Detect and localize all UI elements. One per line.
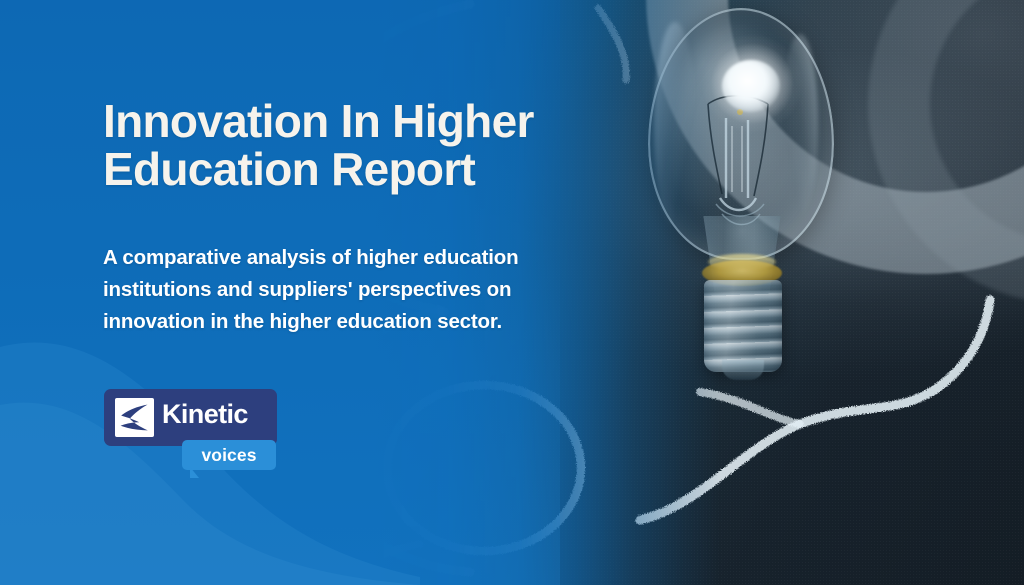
page-subtitle: A comparative analysis of higher educati… xyxy=(103,242,618,339)
logo-secondary-bubble-tail xyxy=(190,467,205,478)
page-title: Innovation In Higher Education Report xyxy=(103,98,623,194)
bulb-base-tip xyxy=(722,360,764,380)
bulb-specular-highlight xyxy=(722,60,780,112)
logo-secondary-bubble: voices xyxy=(182,440,276,470)
report-cover: Innovation In Higher Education Report A … xyxy=(0,0,1024,585)
logo-brand-text: Kinetic xyxy=(162,401,248,428)
logo-sub-brand-text: voices xyxy=(182,440,276,470)
kinetic-swoosh-icon xyxy=(115,398,154,437)
kinetic-voices-logo[interactable]: Kinetic voices xyxy=(104,389,284,481)
hero-text-block: Innovation In Higher Education Report A … xyxy=(103,98,623,339)
